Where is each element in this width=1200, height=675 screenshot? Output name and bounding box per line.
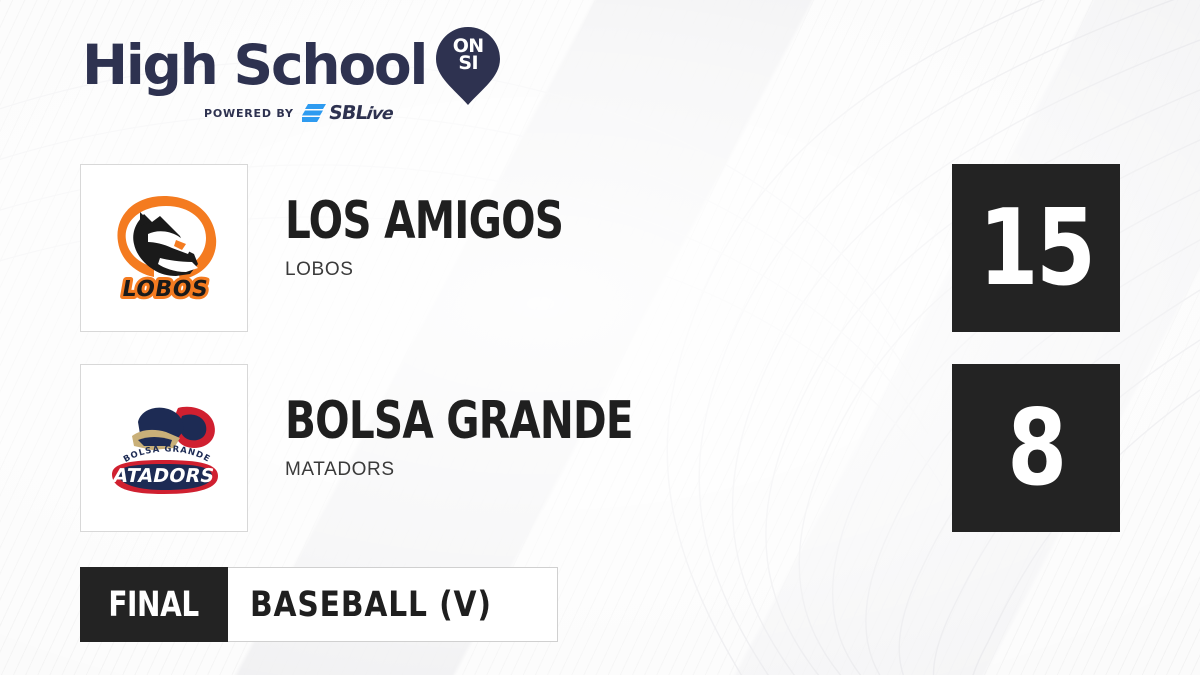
team-name-home: BOLSA GRANDE bbox=[285, 394, 633, 448]
brand-header: High School ON SI POWERED BY bbox=[82, 34, 512, 134]
team-info-home: BOLSA GRANDE MATADORS bbox=[285, 394, 731, 481]
sblive-italic-text: ive bbox=[365, 104, 394, 124]
onsi-pin-text: ON SI bbox=[436, 38, 500, 72]
team-row-away: LOBOS LOBOS LOS AMIGOS LOBOS 15 bbox=[80, 164, 1120, 334]
score-value-home: 8 bbox=[1007, 396, 1064, 501]
team-logo-card-home: BOLSA GRANDE MATADORS bbox=[80, 364, 248, 532]
score-box-away: 15 bbox=[952, 164, 1120, 332]
status-badge-label: FINAL bbox=[109, 585, 200, 625]
score-box-home: 8 bbox=[952, 364, 1120, 532]
lobos-logo-text: LOBOS bbox=[120, 276, 210, 302]
score-value-away: 15 bbox=[979, 196, 1094, 301]
powered-by-label: POWERED BY bbox=[204, 107, 294, 120]
status-badge: FINAL bbox=[80, 567, 228, 642]
team-logo-card-away: LOBOS LOBOS bbox=[80, 164, 248, 332]
team-name-away: LOS AMIGOS bbox=[285, 194, 563, 248]
sblive-logo: SBLive bbox=[302, 102, 393, 124]
matadors-logo: BOLSA GRANDE MATADORS bbox=[94, 378, 234, 518]
scoreboard-graphic: High School ON SI POWERED BY bbox=[0, 0, 1200, 675]
team-mascot-home: MATADORS bbox=[285, 459, 731, 481]
sblive-bolt-icon bbox=[302, 104, 326, 122]
pin-line-si: SI bbox=[436, 55, 500, 72]
team-info-away: LOS AMIGOS LOBOS bbox=[285, 194, 642, 281]
brand-logo-row: High School ON SI bbox=[82, 34, 512, 96]
brand-wordmark: High School bbox=[82, 38, 426, 93]
sblive-wordmark: SBLive bbox=[327, 102, 394, 124]
sport-label: BASEBALL (V) bbox=[250, 585, 492, 625]
matadors-logo-text: MATADORS bbox=[94, 464, 217, 487]
team-row-home: BOLSA GRANDE MATADORS BOLSA GRANDE MATAD… bbox=[80, 364, 1120, 534]
powered-by-row: POWERED BY SBLive bbox=[82, 102, 512, 124]
sport-label-box: BASEBALL (V) bbox=[228, 567, 558, 642]
team-mascot-away: LOBOS bbox=[285, 259, 642, 281]
lobos-logo: LOBOS LOBOS bbox=[94, 178, 234, 318]
sblive-main-text: SBL bbox=[327, 102, 368, 124]
game-status-bar: FINAL BASEBALL (V) bbox=[80, 567, 558, 642]
onsi-pin-icon: ON SI bbox=[436, 27, 500, 105]
